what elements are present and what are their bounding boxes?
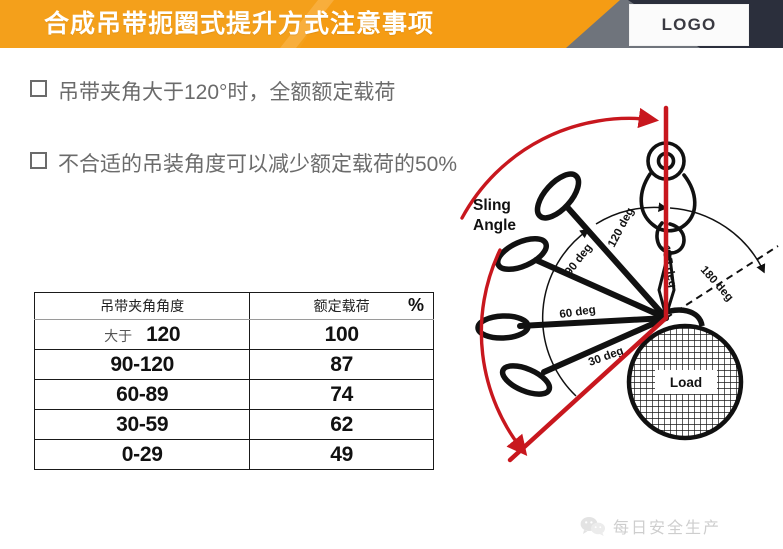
load-label: Load bbox=[670, 375, 702, 390]
cell-angle-value: 120 bbox=[146, 323, 180, 346]
column-header-load: 额定载荷 % bbox=[250, 293, 434, 320]
sling-angle-caption-line1: Sling bbox=[473, 197, 511, 214]
bullet-item-2: 不合适的吊装角度可以减少额定载荷的50% bbox=[30, 152, 457, 177]
column-header-angle: 吊带夹角角度 bbox=[35, 293, 250, 320]
cell-load: 74 bbox=[250, 380, 434, 410]
cell-load-value: 74 bbox=[330, 383, 353, 406]
cell-load: 87 bbox=[250, 350, 434, 380]
sling-angle-caption: Sling Angle bbox=[473, 197, 516, 234]
square-outline-icon bbox=[30, 152, 47, 169]
cell-angle-value: 60-89 bbox=[116, 383, 168, 406]
square-outline-icon bbox=[30, 80, 47, 97]
table-row: 90-120 87 bbox=[35, 350, 434, 380]
logo-label: LOGO bbox=[662, 15, 717, 35]
watermark: 每日安全生产 bbox=[580, 514, 721, 538]
cell-load-value: 87 bbox=[330, 353, 353, 376]
table-header: 吊带夹角角度 额定载荷 % bbox=[35, 293, 434, 320]
degree-label-90: 90 deg bbox=[563, 242, 595, 278]
column-header-load-text: 额定载荷 bbox=[314, 298, 370, 314]
bullet-text-1: 吊带夹角大于120°时，全额额定载荷 bbox=[58, 81, 395, 104]
sling-angle-diagram: 30 deg 60 deg 90 deg 120 deg 135 deg 180… bbox=[448, 100, 783, 480]
degree-label-60: 60 deg bbox=[559, 304, 597, 321]
bullet-item-1: 吊带夹角大于120°时，全额额定载荷 bbox=[30, 80, 395, 105]
logo-box[interactable]: LOGO bbox=[629, 4, 749, 46]
cell-angle: 30-59 bbox=[35, 410, 250, 440]
column-header-percent: % bbox=[408, 295, 424, 316]
table-row: 0-29 49 bbox=[35, 440, 434, 470]
page-title: 合成吊带扼圈式提升方式注意事项 bbox=[44, 5, 434, 43]
slide-canvas: 合成吊带扼圈式提升方式注意事项 LOGO 吊带夹角大于120°时，全额额定载荷 … bbox=[0, 0, 783, 549]
cell-load: 100 bbox=[250, 320, 434, 350]
table-row: 30-59 62 bbox=[35, 410, 434, 440]
table-header-row: 吊带夹角角度 额定载荷 % bbox=[35, 293, 434, 320]
slide-header: 合成吊带扼圈式提升方式注意事项 LOGO bbox=[0, 0, 783, 48]
sling-angle-illustration: 30 deg 60 deg 90 deg 120 deg 135 deg 180… bbox=[448, 100, 783, 480]
cell-angle: 60-89 bbox=[35, 380, 250, 410]
sling-rating-table: 吊带夹角角度 额定载荷 % 大于120 100 90-120 87 60-89 … bbox=[34, 292, 434, 470]
table-row: 60-89 74 bbox=[35, 380, 434, 410]
red-arc-arrow-bottom bbox=[481, 250, 524, 452]
wechat-icon bbox=[580, 516, 606, 536]
cell-angle-value: 90-120 bbox=[110, 353, 174, 376]
cell-load-value: 100 bbox=[325, 323, 359, 346]
cell-load-value: 49 bbox=[330, 443, 353, 466]
cell-angle: 90-120 bbox=[35, 350, 250, 380]
degree-label-180: 180 deg bbox=[698, 264, 736, 304]
cell-load-value: 62 bbox=[330, 413, 353, 436]
cell-angle-value: 30-59 bbox=[116, 413, 168, 436]
cell-angle: 0-29 bbox=[35, 440, 250, 470]
cell-angle-prefix: 大于 bbox=[104, 328, 132, 344]
watermark-text: 每日安全生产 bbox=[613, 514, 721, 538]
cell-load: 62 bbox=[250, 410, 434, 440]
cell-load: 49 bbox=[250, 440, 434, 470]
sling-angle-caption-line2: Angle bbox=[473, 217, 516, 234]
bullet-text-2: 不合适的吊装角度可以减少额定载荷的50% bbox=[58, 153, 457, 176]
cell-angle-value: 0-29 bbox=[122, 443, 163, 466]
sling-loop-120 bbox=[530, 167, 666, 318]
table-row: 大于120 100 bbox=[35, 320, 434, 350]
cell-angle: 大于120 bbox=[35, 320, 250, 350]
table-body: 大于120 100 90-120 87 60-89 74 30-59 62 0-… bbox=[35, 320, 434, 470]
